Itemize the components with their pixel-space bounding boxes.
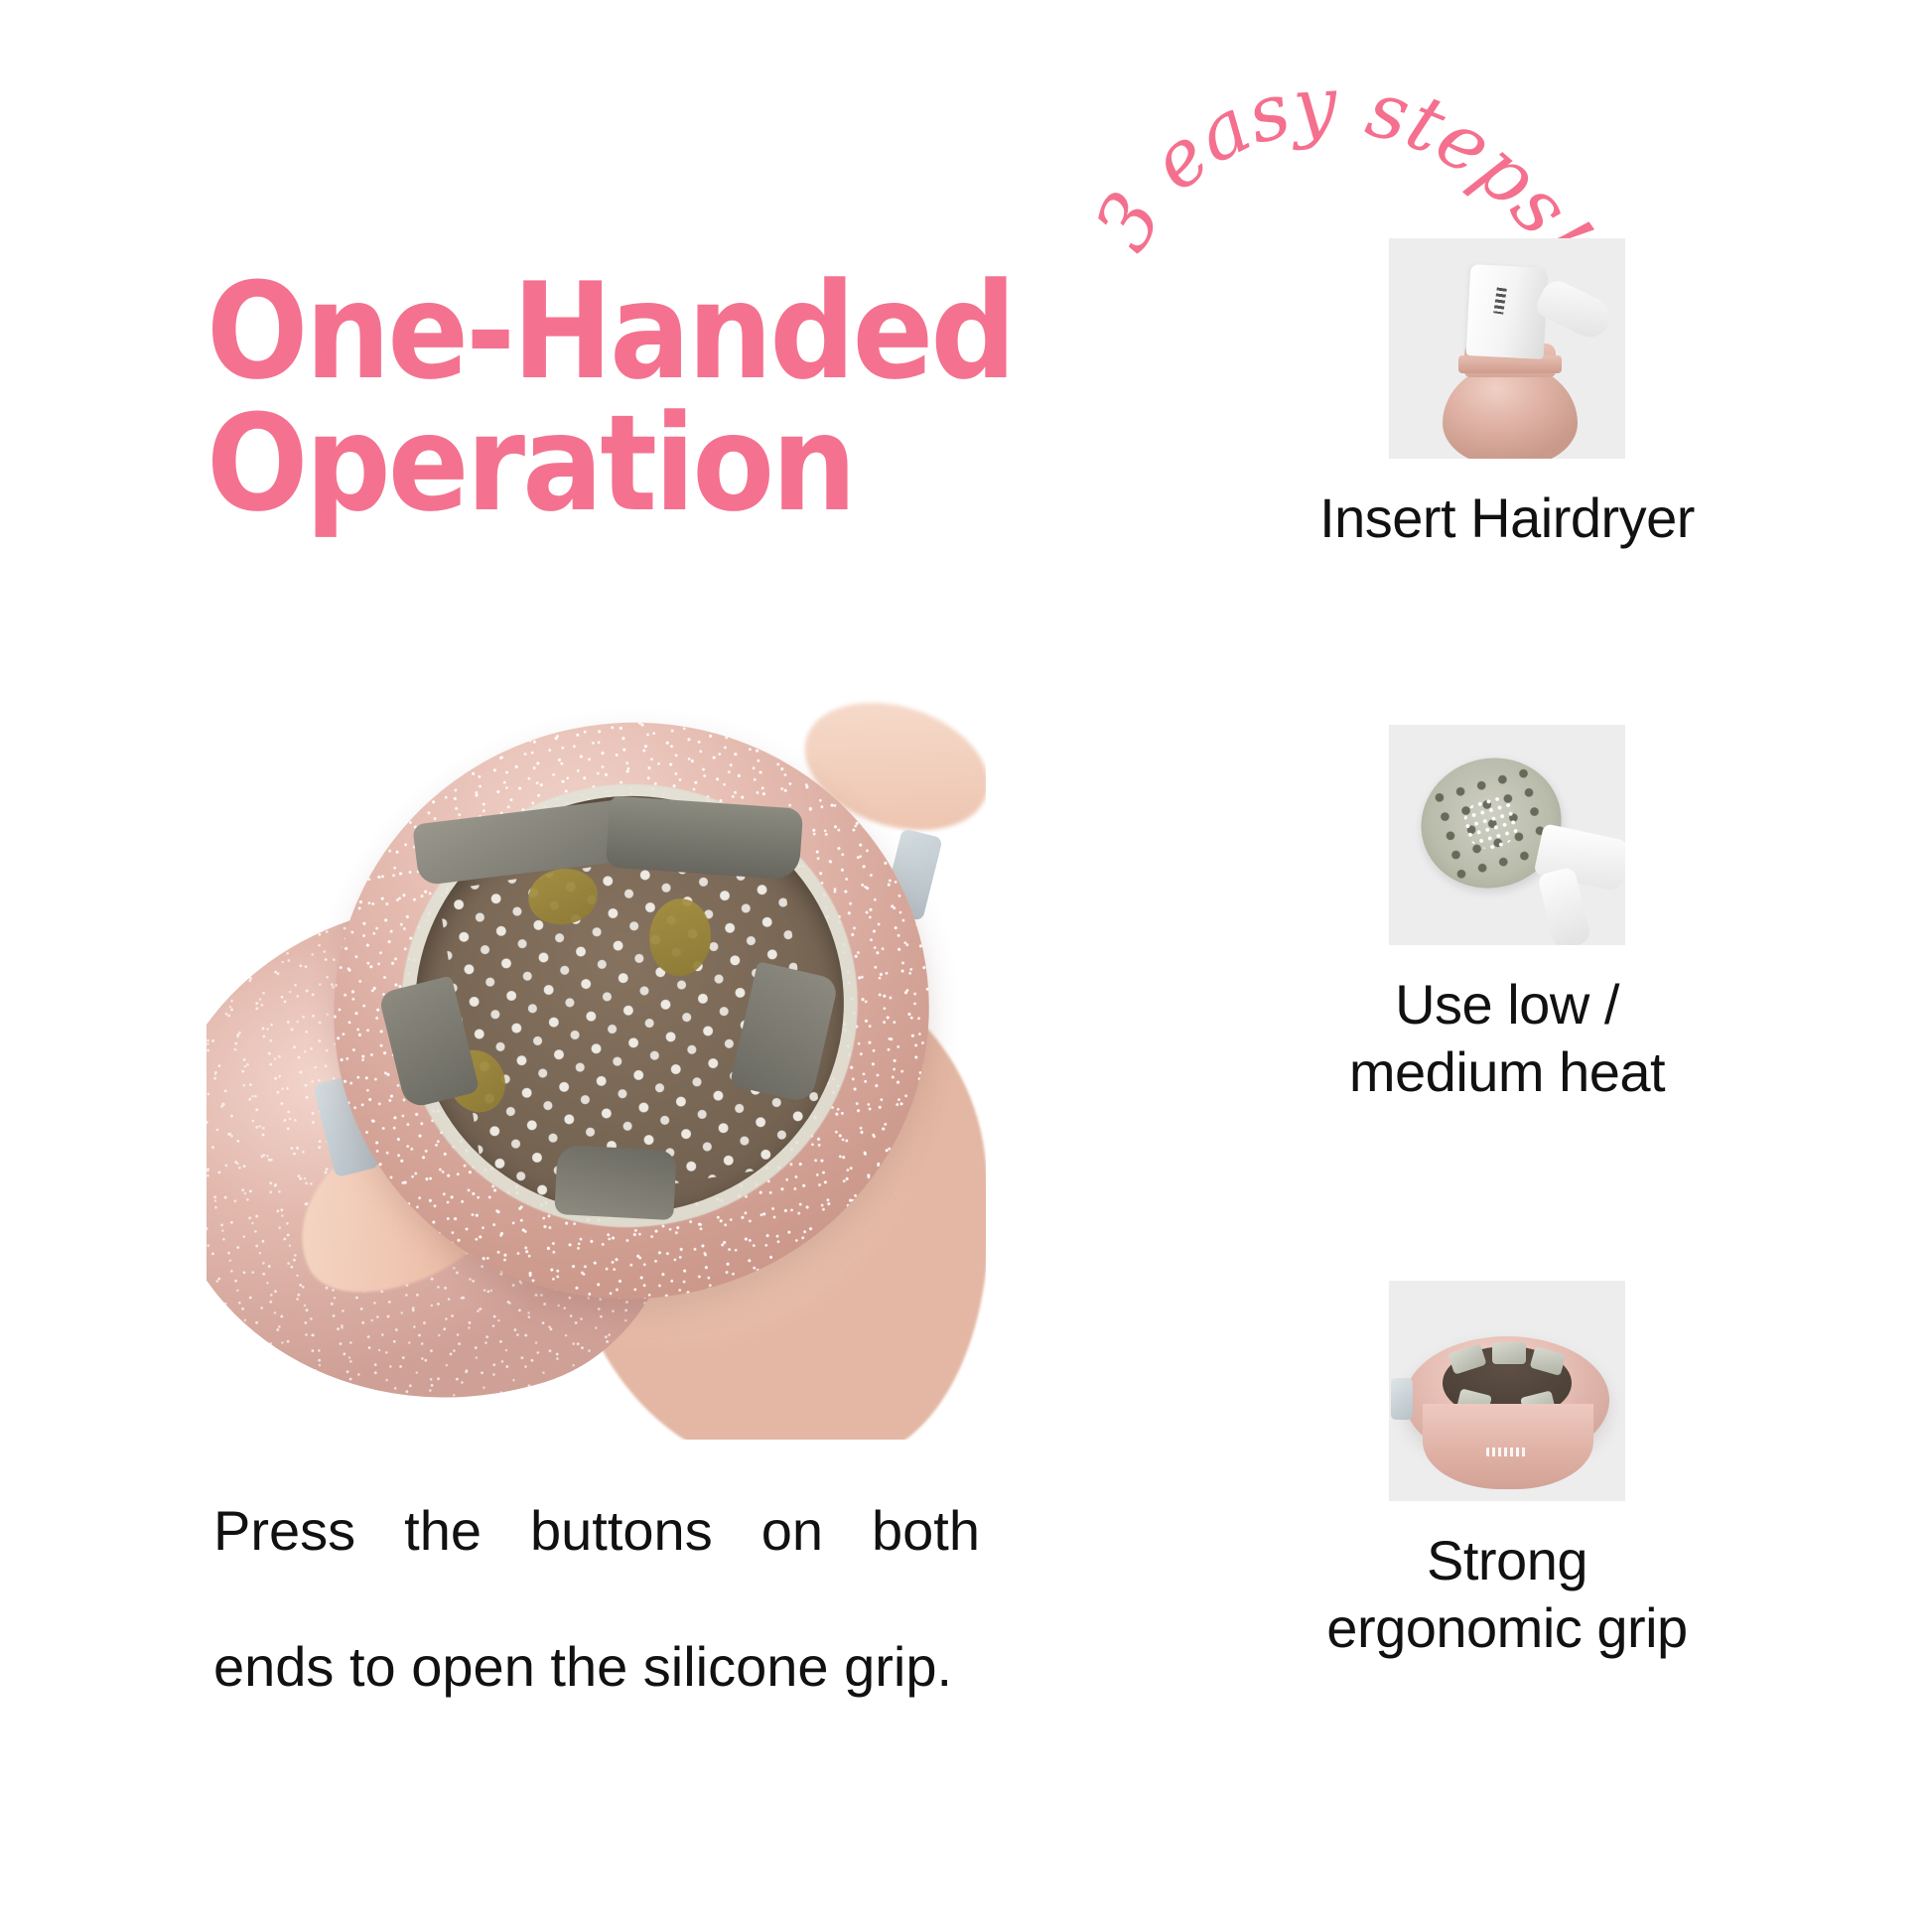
step-3-label-line-1: Strong <box>1082 1527 1932 1594</box>
step-3: Strong ergonomic grip <box>1082 1281 1932 1663</box>
hero-caption-line-2: ends to open the silicone grip. <box>213 1635 952 1698</box>
step-1-label: Insert Hairdryer <box>1082 484 1932 552</box>
grip-tab-2 <box>1492 1342 1526 1364</box>
side-release-button-icon <box>1391 1378 1413 1420</box>
strong-ergonomic-grip-photo <box>1389 1281 1625 1501</box>
step-3-label-line-2: ergonomic grip <box>1082 1594 1932 1662</box>
silicone-grip-top-right <box>606 795 804 880</box>
hero-photo-artwork <box>207 685 986 1440</box>
right-column: 3 easy steps! Insert Hairdryer Use low <box>1082 0 1932 1932</box>
page-title-line-1: One-Handed <box>207 266 1060 398</box>
left-column: One-Handed Operation <box>0 0 1082 1932</box>
step-3-label: Strong ergonomic grip <box>1082 1527 1932 1663</box>
page-title-line-2: Operation <box>207 398 1060 530</box>
hero-product-photo <box>207 685 986 1440</box>
step-1: Insert Hairdryer <box>1082 238 1932 552</box>
step-2-label-line-1: Use low / <box>1082 971 1932 1038</box>
step-2-label-line-2: medium heat <box>1082 1038 1932 1106</box>
hero-caption: Press the buttons on both ends to open t… <box>213 1497 980 1701</box>
use-low-medium-heat-photo <box>1389 725 1625 945</box>
insert-hairdryer-photo <box>1389 238 1625 459</box>
diffuser-base-icon <box>1423 1404 1593 1489</box>
step-2-label: Use low / medium heat <box>1082 971 1932 1107</box>
diffuser-bowl-icon <box>1443 363 1578 459</box>
hero-caption-line-1: Press the buttons on both <box>213 1497 980 1633</box>
diffuser-band-icon <box>1458 355 1562 373</box>
silicone-grip-bottom <box>554 1145 676 1220</box>
hairdryer-handle-icon <box>1533 276 1616 344</box>
step-2: Use low / medium heat <box>1082 725 1932 1107</box>
page-title: One-Handed Operation <box>207 266 1060 529</box>
base-brand-logo-icon <box>1486 1448 1528 1456</box>
hairdryer-barrel-icon <box>1466 264 1549 359</box>
